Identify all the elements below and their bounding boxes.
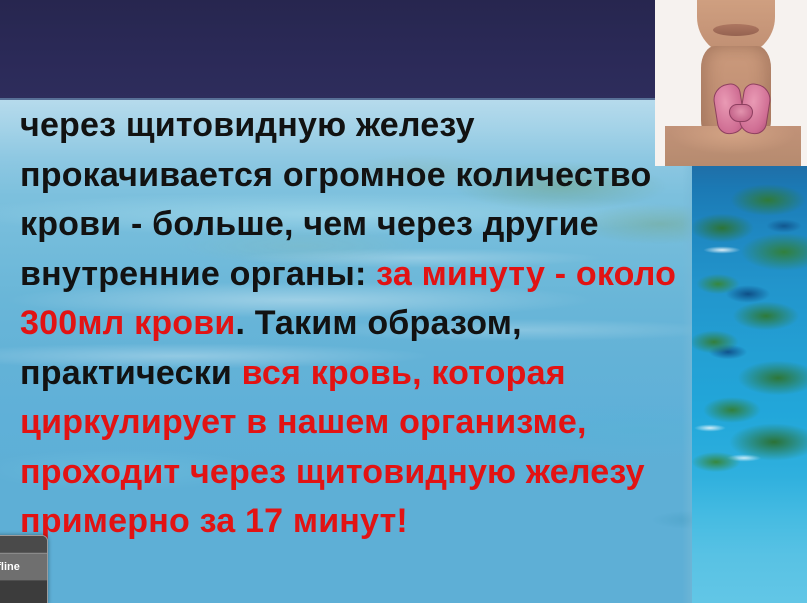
text-segment: через щитовидную железу [20, 106, 475, 144]
chat-contact-popup[interactable]: lina Offline [0, 535, 48, 603]
text-line-6: практически вся кровь, которая [20, 349, 692, 399]
text-segment: прокачивается огромное количество [20, 156, 651, 194]
text-segment: внутренние органы: [20, 255, 376, 293]
text-segment: практически [20, 354, 242, 392]
text-line-4: внутренние органы: за минуту - около [20, 250, 692, 300]
text-line-1: через щитовидную железу [20, 101, 692, 151]
chat-popup-titlebar[interactable] [0, 536, 47, 553]
chat-popup-body [0, 581, 47, 603]
mouth-shape [713, 24, 759, 36]
text-line-5: 300мл крови. Таким образом, [20, 299, 692, 349]
text-segment-highlight: циркулирует в нашем организме, [20, 403, 587, 441]
text-segment: крови - больше, чем через другие [20, 205, 599, 243]
chat-contact-row[interactable]: lina Offline [0, 553, 47, 581]
text-line-3: крови - больше, чем через другие [20, 200, 692, 250]
text-line-2: прокачивается огромное количество [20, 151, 692, 201]
chat-contact-label: lina Offline [0, 561, 20, 573]
text-segment-highlight: 300мл крови [20, 304, 235, 342]
text-line-9: примерно за 17 минут! [20, 497, 692, 547]
text-segment-highlight: вся кровь, которая [242, 354, 566, 392]
tropical-island-photo [692, 166, 807, 603]
text-line-7: циркулирует в нашем организме, [20, 398, 692, 448]
text-segment-highlight: за минуту - около [376, 255, 676, 293]
slide-stage: через щитовидную железу прокачивается ог… [0, 0, 807, 603]
thyroid-isthmus [729, 104, 753, 122]
text-segment-highlight: проходит через щитовидную железу [20, 453, 645, 491]
text-line-8: проходит через щитовидную железу [20, 448, 692, 498]
text-segment-highlight: примерно за 17 минут! [20, 502, 408, 540]
text-segment: . Таким образом, [235, 304, 521, 342]
slide-body-text: через щитовидную железу прокачивается ог… [20, 101, 692, 547]
